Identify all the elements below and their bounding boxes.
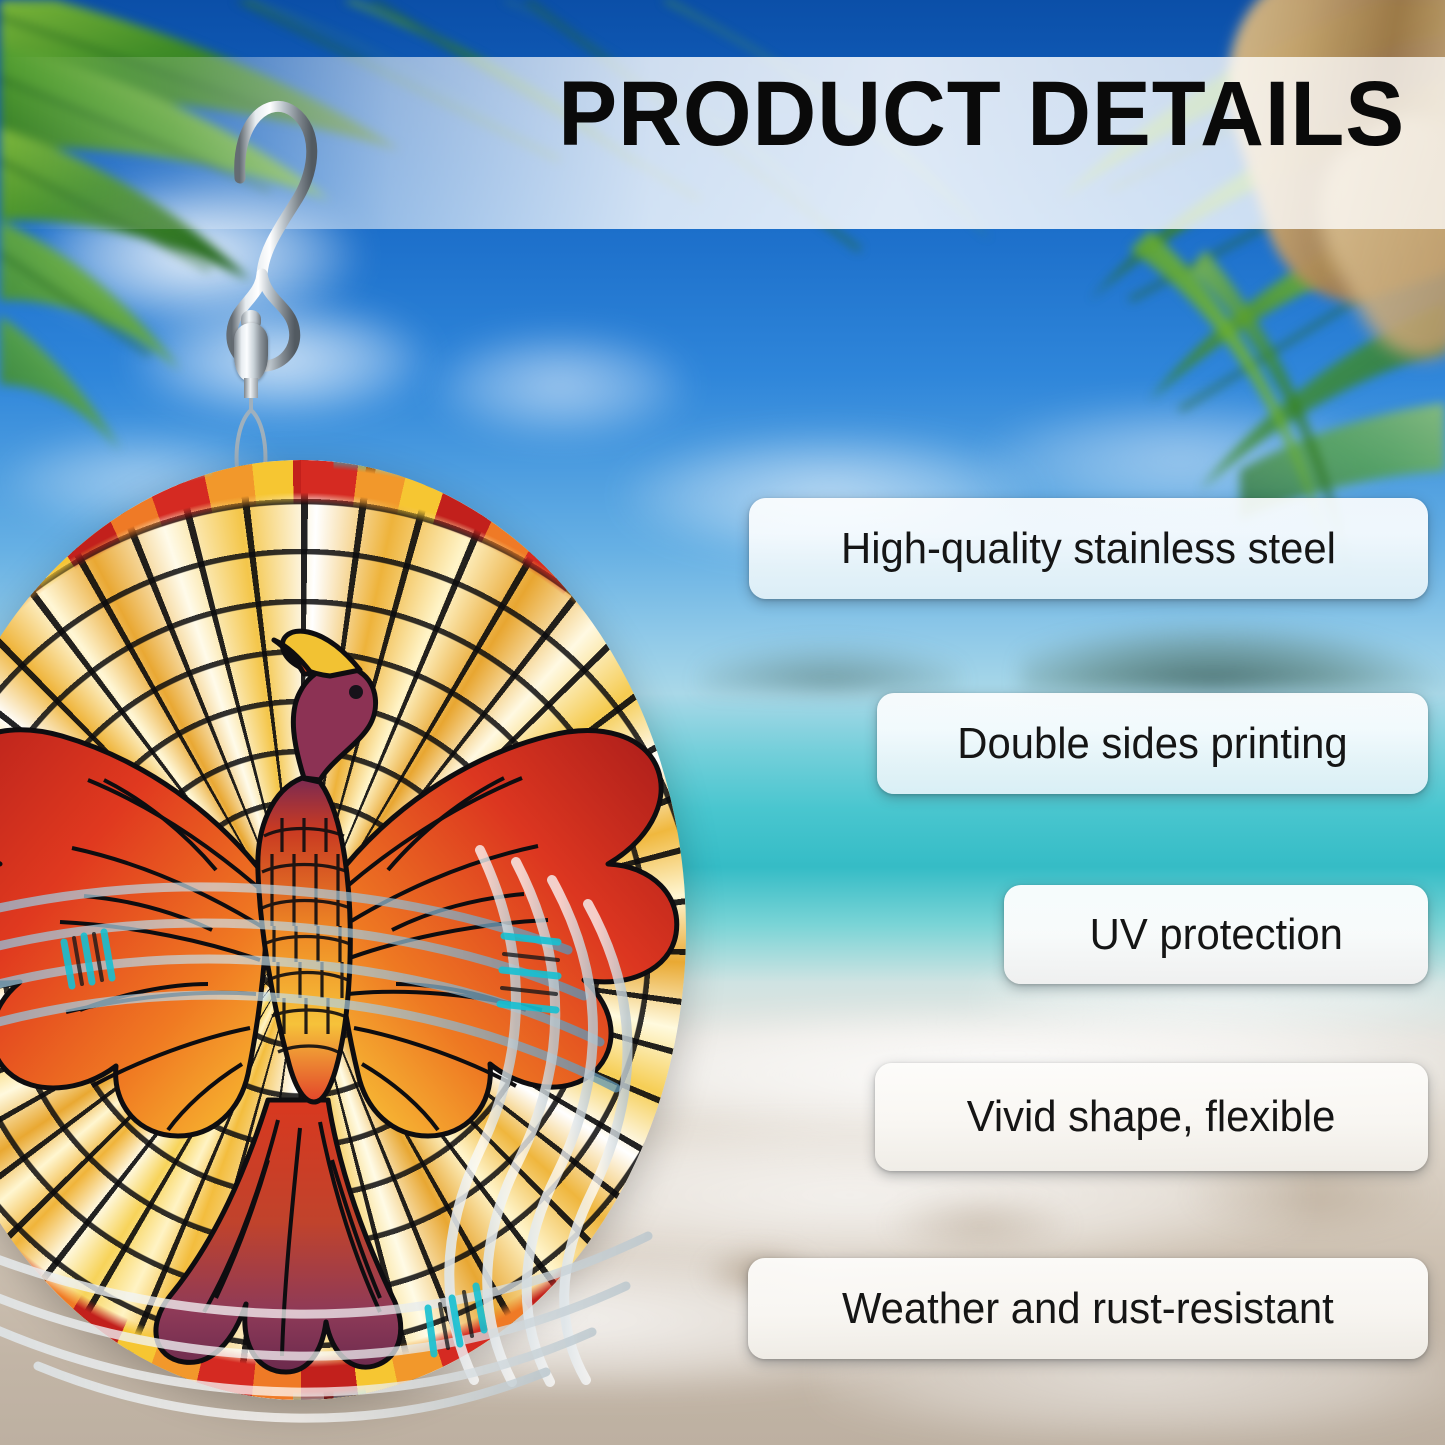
feature-pill-double-sides-printing[interactable]: Double sides printing: [877, 693, 1428, 794]
feature-label: Vivid shape, flexible: [967, 1092, 1336, 1142]
feature-pill-weather-rust-resistant[interactable]: Weather and rust-resistant: [748, 1258, 1428, 1359]
swivel-barrel: [234, 323, 268, 381]
product-details-image: PRODUCT DETAILS: [0, 0, 1445, 1445]
wind-spinner-product: [0, 60, 798, 1430]
feature-label: Weather and rust-resistant: [842, 1284, 1334, 1334]
feature-pill-vivid-shape[interactable]: Vivid shape, flexible: [875, 1063, 1428, 1171]
phoenix-artwork: [0, 460, 686, 1400]
feature-label: Double sides printing: [957, 719, 1347, 769]
spinner-disc: [0, 430, 798, 1430]
swivel-neck: [244, 378, 258, 398]
feature-label: High-quality stainless steel: [841, 524, 1336, 574]
feature-pill-uv-protection[interactable]: UV protection: [1004, 885, 1428, 984]
feature-label: UV protection: [1089, 910, 1342, 960]
feature-pill-stainless-steel[interactable]: High-quality stainless steel: [749, 498, 1428, 599]
